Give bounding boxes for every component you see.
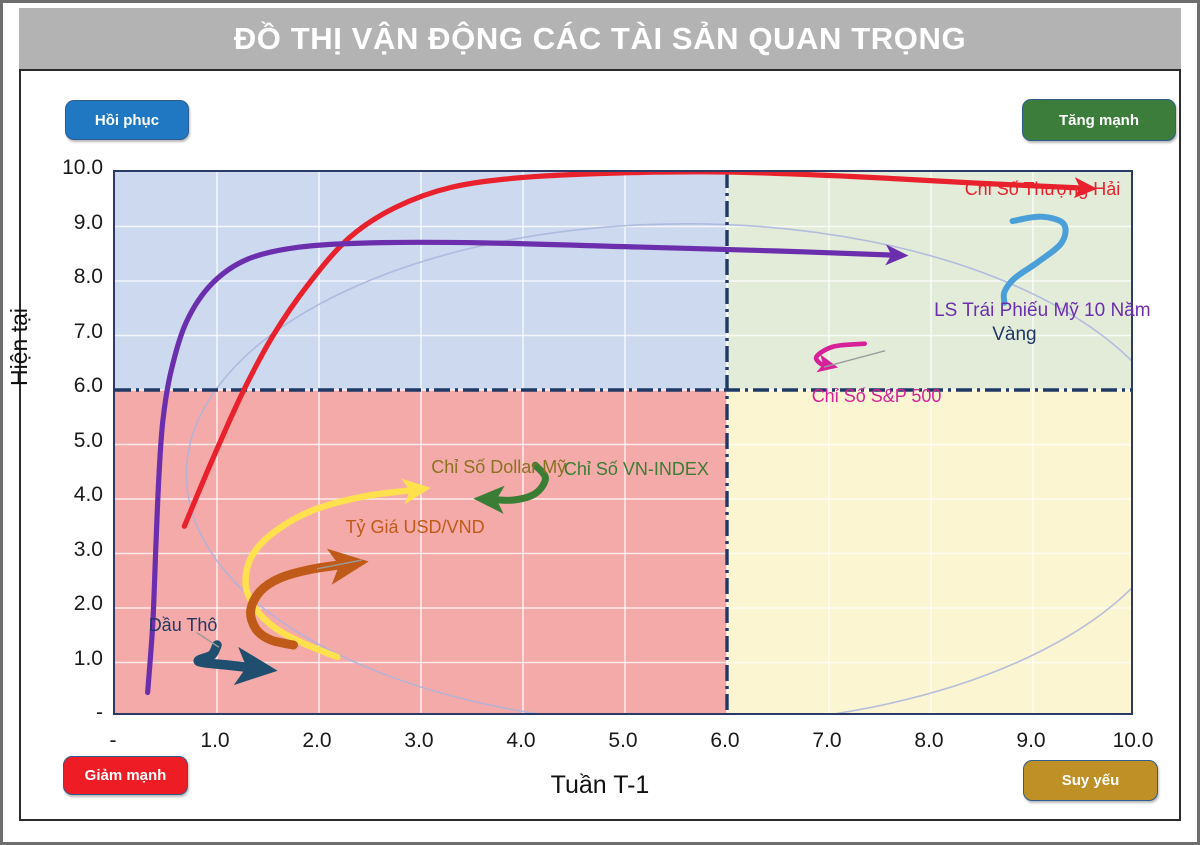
y-tick-label-8: 8.0 [41, 265, 103, 289]
x-tick-label-9: 9.0 [991, 729, 1071, 753]
y-tick-label-4: 4.0 [41, 483, 103, 507]
x-tick-label-3: 3.0 [379, 729, 459, 753]
x-tick-label-5: 5.0 [583, 729, 663, 753]
x-tick-label-2: 2.0 [277, 729, 357, 753]
chart-canvas [115, 172, 1133, 715]
series-label-3: Chỉ Số S&P 500 [812, 386, 942, 407]
series-label-6: Tỷ Giá USD/VND [346, 517, 485, 538]
y-axis-title: Hiện tại [6, 308, 33, 386]
series-label-5: Chỉ Số VN-INDEX [564, 459, 709, 480]
series-label-4: Chỉ Số Dollar Mỹ [431, 457, 566, 478]
series-label-0: Chỉ Số Thượng Hải [965, 179, 1121, 200]
y-tick-label-1: 1.0 [41, 647, 103, 671]
x-tick-label-7: 7.0 [787, 729, 867, 753]
series-label-2: Vàng [992, 324, 1036, 346]
x-tick-label-6: 6.0 [685, 729, 765, 753]
quadrant-button-strong-up[interactable]: Tăng mạnh [1022, 99, 1176, 141]
quadrant-Suy yếu [727, 390, 1133, 715]
y-tick-label-3: 3.0 [41, 538, 103, 562]
y-tick-label-10: 10.0 [41, 156, 103, 180]
y-tick-label-2: 2.0 [41, 592, 103, 616]
series-label-7: Dầu Thô [149, 615, 218, 636]
x-tick-label-8: 8.0 [889, 729, 969, 753]
quadrant-button-recover[interactable]: Hồi phục [65, 100, 189, 140]
x-tick-label-1: 1.0 [175, 729, 255, 753]
y-tick-label-9: 9.0 [41, 211, 103, 235]
series-label-1: LS Trái Phiếu Mỹ 10 Năm [934, 300, 1150, 322]
quadrant-button-strong-up-label: Tăng mạnh [1059, 112, 1139, 129]
x-tick-label-0: - [73, 729, 153, 753]
y-tick-label-7: 7.0 [41, 320, 103, 344]
x-axis-title: Tuần T-1 [0, 771, 1200, 800]
y-tick-label-0: - [41, 701, 103, 725]
plot-frame [113, 170, 1133, 715]
plot-area: Chỉ Số Thượng HảiLS Trái Phiếu Mỹ 10 Năm… [113, 170, 1133, 715]
page-title: ĐỒ THỊ VẬN ĐỘNG CÁC TÀI SẢN QUAN TRỌNG [234, 21, 966, 57]
y-tick-label-6: 6.0 [41, 374, 103, 398]
quadrant-button-recover-label: Hồi phục [95, 112, 159, 129]
x-tick-label-10: 10.0 [1093, 729, 1173, 753]
screenshot-root: ĐỒ THỊ VẬN ĐỘNG CÁC TÀI SẢN QUAN TRỌNG H… [0, 0, 1200, 845]
y-tick-label-5: 5.0 [41, 429, 103, 453]
x-tick-label-4: 4.0 [481, 729, 561, 753]
title-banner: ĐỒ THỊ VẬN ĐỘNG CÁC TÀI SẢN QUAN TRỌNG [19, 8, 1181, 69]
